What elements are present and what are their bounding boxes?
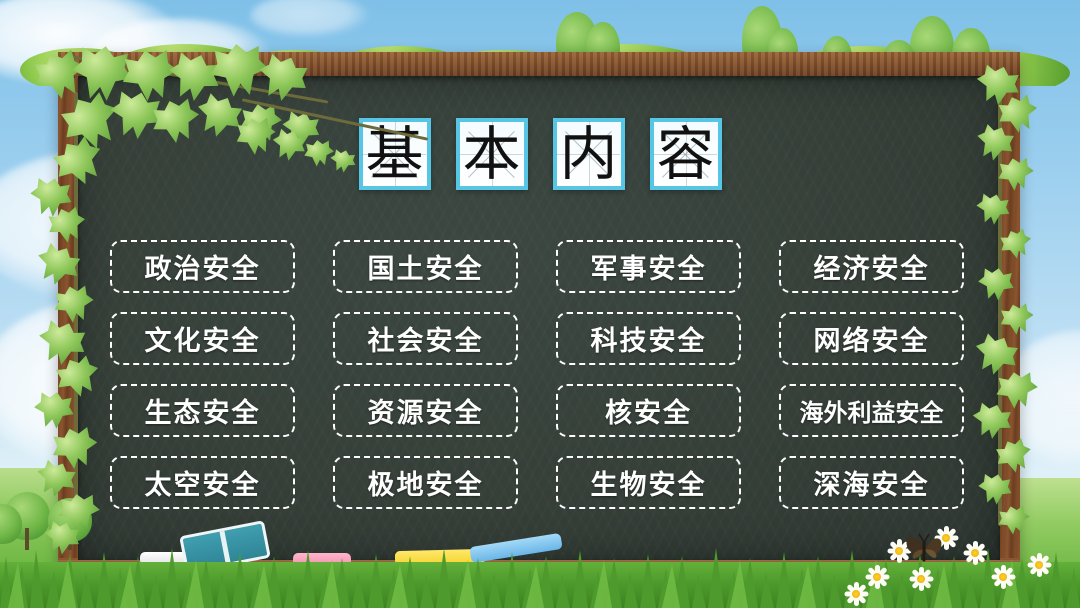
grid-item[interactable]: 海外利益安全 xyxy=(779,384,964,437)
daisy-flower xyxy=(990,564,1016,590)
title-char: 内 xyxy=(559,125,617,183)
grid-item[interactable]: 社会安全 xyxy=(333,312,518,365)
grid-item[interactable]: 核安全 xyxy=(556,384,741,437)
title-char: 基 xyxy=(365,125,423,183)
daisy-flower xyxy=(1026,552,1052,578)
wooden-frame-top xyxy=(58,52,1020,78)
title-char-box-3: 内 xyxy=(553,118,625,190)
grid-item[interactable]: 网络安全 xyxy=(779,312,964,365)
title-char-box-2: 本 xyxy=(456,118,528,190)
grid-item[interactable]: 生物安全 xyxy=(556,456,741,509)
security-domains-grid: 政治安全 国土安全 军事安全 经济安全 文化安全 社会安全 科技安全 网络安全 … xyxy=(110,240,970,509)
title-char: 本 xyxy=(462,125,520,183)
grid-item[interactable]: 科技安全 xyxy=(556,312,741,365)
daisy-flower xyxy=(846,584,866,604)
grid-item[interactable]: 极地安全 xyxy=(333,456,518,509)
grid-item[interactable]: 经济安全 xyxy=(779,240,964,293)
butterfly-icon xyxy=(902,528,948,573)
grid-item[interactable]: 太空安全 xyxy=(110,456,295,509)
page-title: 基 本 内 容 xyxy=(0,118,1080,190)
daisy-flower xyxy=(866,566,888,588)
grid-item[interactable]: 文化安全 xyxy=(110,312,295,365)
slide-canvas: 基 本 内 容 政治安全 国土安全 军事安全 经济安全 文化安全 社会安全 科技… xyxy=(0,0,1080,608)
title-char: 容 xyxy=(656,125,714,183)
title-char-box-1: 基 xyxy=(359,118,431,190)
grid-item[interactable]: 深海安全 xyxy=(779,456,964,509)
grid-item[interactable]: 资源安全 xyxy=(333,384,518,437)
grid-item[interactable]: 国土安全 xyxy=(333,240,518,293)
grid-item[interactable]: 生态安全 xyxy=(110,384,295,437)
daisy-flower xyxy=(962,540,988,566)
grid-item[interactable]: 政治安全 xyxy=(110,240,295,293)
title-char-box-4: 容 xyxy=(650,118,722,190)
grid-item[interactable]: 军事安全 xyxy=(556,240,741,293)
